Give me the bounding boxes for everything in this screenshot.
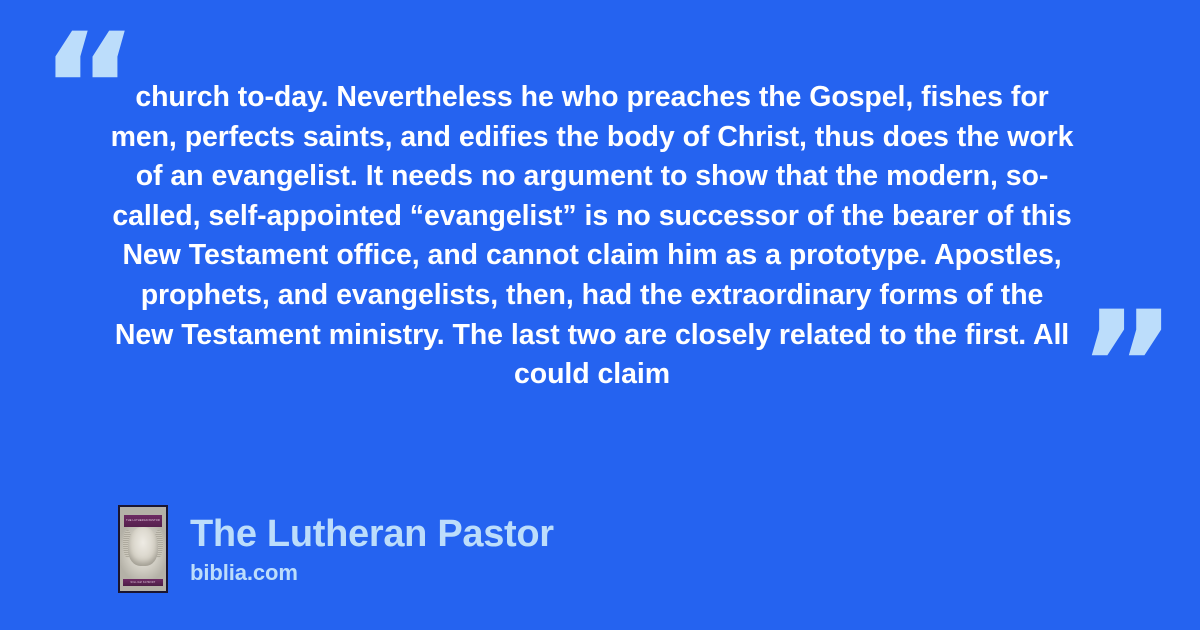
source-site[interactable]: biblia.com (190, 559, 554, 587)
cover-author-band: WILLIAM SCHMIDT (123, 579, 163, 586)
closing-quote-icon: ” (1078, 292, 1175, 442)
attribution-text: The Lutheran Pastor biblia.com (190, 512, 554, 587)
cover-title-band: THE LUTHERAN PASTOR (124, 515, 163, 528)
attribution[interactable]: THE LUTHERAN PASTOR WILLIAM SCHMIDT The … (118, 505, 554, 593)
book-cover-icon[interactable]: THE LUTHERAN PASTOR WILLIAM SCHMIDT (118, 505, 168, 593)
quote-text: church to-day. Nevertheless he who preac… (110, 78, 1074, 395)
quote-block: church to-day. Nevertheless he who preac… (110, 78, 1074, 395)
source-title[interactable]: The Lutheran Pastor (190, 512, 554, 556)
book-cover-art: THE LUTHERAN PASTOR WILLIAM SCHMIDT (120, 507, 166, 591)
cover-title-text: THE LUTHERAN PASTOR (126, 519, 160, 523)
cover-portrait-face (128, 527, 157, 566)
quote-card: “ church to-day. Nevertheless he who pre… (0, 0, 1200, 630)
cover-author-text: WILLIAM SCHMIDT (130, 582, 155, 584)
